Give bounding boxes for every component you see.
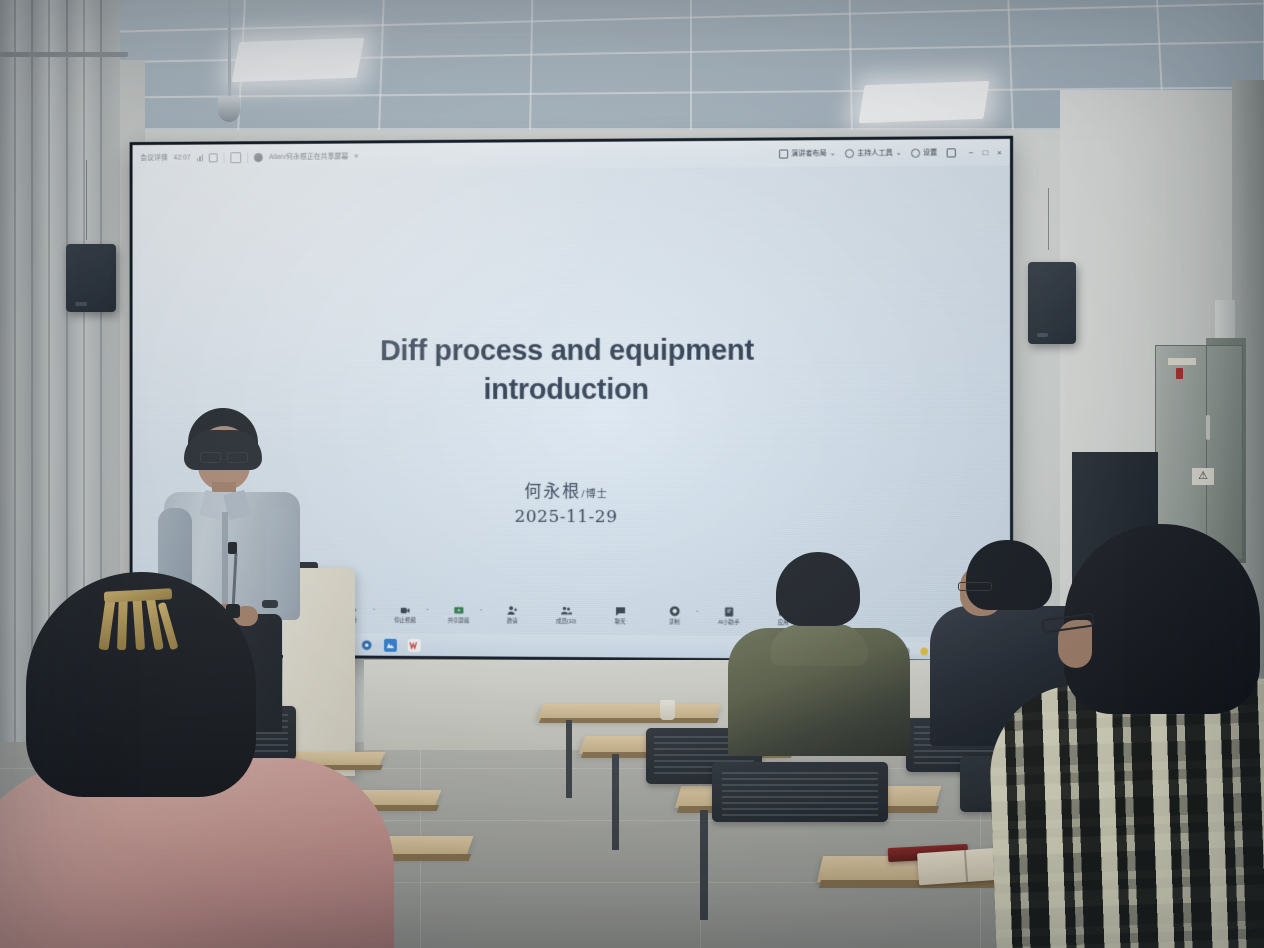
classroom-scene: ⚠ 会议详情 42:07	[0, 0, 1264, 948]
foreground-person-plaid-shirt	[1012, 524, 1264, 948]
ceiling-light-right	[859, 81, 990, 123]
meeting-top-bar: 会议详情 42:07 Allan/何永根正在共享屏幕 ≡	[133, 139, 1010, 171]
glasses-icon	[200, 452, 248, 461]
chevron-up-icon[interactable]: ⌄	[479, 606, 483, 612]
toolbar-label: 共享屏幕	[448, 616, 469, 624]
slide-title: Diff process and equipment introduction	[133, 331, 1010, 410]
foreground-person-pink-sweater	[0, 572, 390, 948]
cabinet-handle[interactable]	[1206, 415, 1210, 440]
toolbar-share-screen[interactable]: 共享屏幕 ⌄	[439, 603, 479, 624]
speaker-layout-button[interactable]: 演讲者布局 ⌄	[779, 148, 836, 158]
close-button[interactable]: ×	[997, 148, 1002, 157]
jacket-hood	[770, 624, 868, 666]
settings-button[interactable]: 设置	[911, 147, 937, 157]
share-screen-icon	[452, 603, 465, 614]
ceiling-light-left	[232, 38, 365, 82]
warning-sign: ⚠	[1192, 468, 1214, 485]
avatar	[254, 153, 263, 162]
chevron-up-icon[interactable]: ⌄	[425, 606, 429, 612]
cabinet-label	[1168, 358, 1196, 365]
layout-icon	[779, 149, 788, 158]
divider	[247, 152, 248, 163]
sharing-status: Allan/何永根正在共享屏幕	[269, 151, 348, 161]
dome-camera-icon	[218, 96, 240, 122]
divider	[224, 152, 225, 163]
toolbar-label: 成员(10)	[556, 616, 576, 624]
camera-icon	[398, 603, 411, 614]
curtain-rod	[0, 52, 128, 57]
expand-icon[interactable]	[209, 153, 218, 162]
fullscreen-icon[interactable]	[946, 148, 955, 157]
record-icon	[668, 604, 681, 615]
paper-cup	[660, 700, 675, 720]
author-name: 何永根	[524, 482, 581, 502]
toolbar-label: 聊天	[615, 617, 626, 625]
plaid-flannel-shirt	[987, 676, 1264, 948]
host-tools-button[interactable]: 主持人工具 ⌄	[845, 148, 902, 158]
signal-bars-icon[interactable]	[197, 153, 204, 161]
slide-title-line2: introduction	[133, 371, 1010, 410]
cabinet-lock-icon	[1176, 368, 1183, 379]
gold-hair-clip	[102, 590, 176, 656]
chevron-down-icon: ⌄	[830, 149, 836, 157]
meeting-timer: 42:07	[174, 154, 191, 161]
meeting-app-icon[interactable]	[231, 152, 242, 163]
toolbar-label: 录制	[669, 617, 680, 625]
shield-icon	[845, 149, 854, 158]
desk-leg	[566, 720, 572, 798]
author-degree: /博士	[581, 489, 607, 500]
minimize-button[interactable]: −	[969, 148, 974, 157]
more-menu-icon[interactable]: ≡	[354, 153, 358, 160]
chair-slats	[722, 772, 878, 816]
warning-icon: ⚠	[1198, 471, 1208, 482]
meeting-details-label: 会议详情	[140, 153, 167, 163]
desk-leg	[700, 810, 708, 920]
participants-icon	[560, 603, 573, 614]
toolbar-invite[interactable]: 邀请	[492, 603, 532, 624]
toolbar-label: 邀请	[507, 616, 518, 624]
gear-icon	[911, 148, 920, 157]
invite-person-icon	[506, 603, 519, 614]
meeting-details-button[interactable]: 会议详情	[140, 153, 167, 163]
toolbar-record[interactable]: 录制 ⌄	[654, 604, 694, 625]
chevron-down-icon: ⌄	[896, 149, 902, 157]
toolbar-stop-video[interactable]: 停止视频 ⌄	[385, 602, 425, 623]
glasses-icon	[958, 582, 992, 591]
toolbar-label: 停止视频	[394, 615, 415, 623]
wall-speaker-left	[66, 244, 116, 312]
maximize-button[interactable]: □	[983, 148, 988, 157]
toolbar-participants[interactable]: 成员(10)	[546, 603, 586, 624]
wall-speaker-right	[1028, 262, 1076, 344]
toolbar-chat[interactable]: 聊天	[600, 604, 640, 625]
slide-title-line1: Diff process and equipment	[133, 331, 1010, 371]
hair	[776, 552, 860, 626]
chevron-up-icon[interactable]: ⌄	[695, 607, 699, 613]
audience-member-olive-jacket	[722, 552, 912, 752]
desk-leg	[612, 754, 619, 850]
chat-icon	[614, 604, 627, 615]
presenter-hair-front	[184, 430, 262, 470]
yellow-status-icon[interactable]	[919, 643, 929, 653]
wps-office-icon[interactable]	[408, 638, 421, 651]
